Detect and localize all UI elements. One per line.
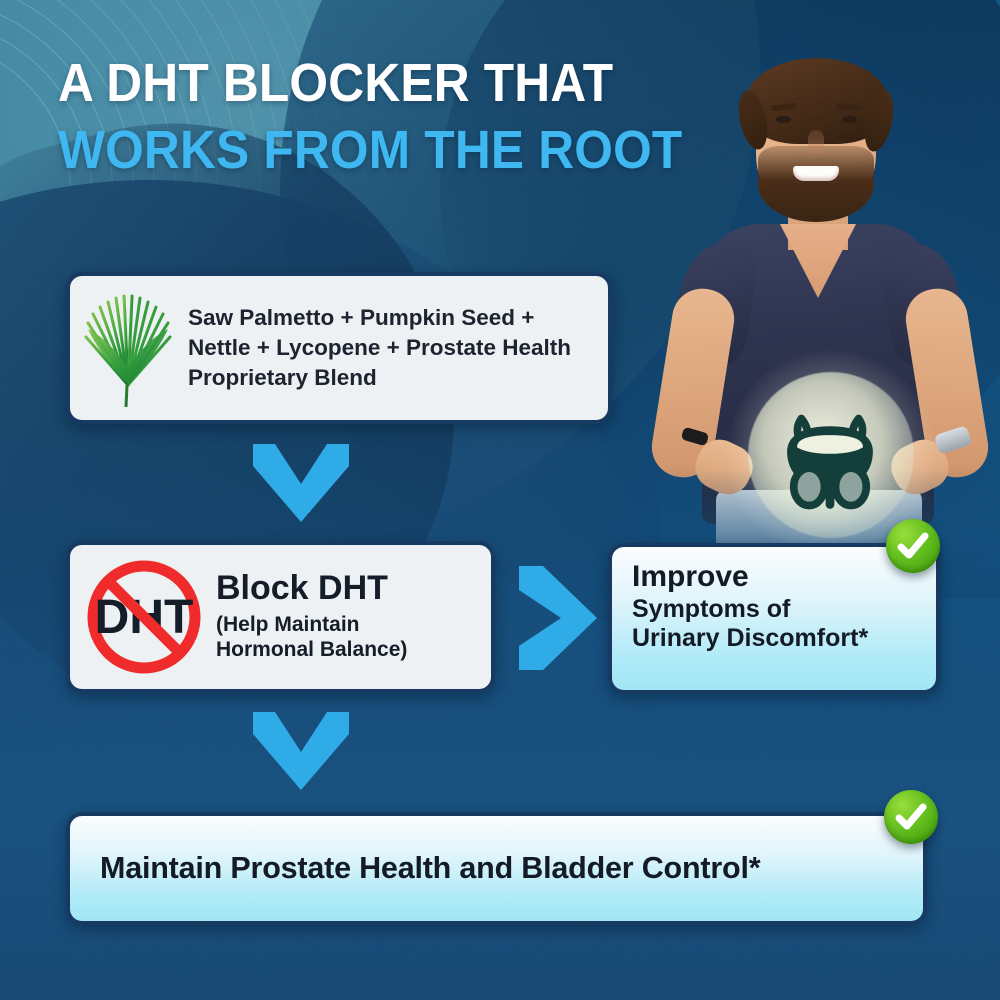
block-dht-title: Block DHT: [216, 571, 407, 607]
palm-leaf-icon: [82, 289, 174, 407]
block-dht-card: DHT Block DHT (Help Maintain Hormonal Ba…: [66, 541, 495, 693]
ingredient-blend-bold: Saw Palmetto: [188, 305, 334, 330]
chevron-down-icon: [253, 444, 349, 527]
ingredient-blend-card: Saw Palmetto + Pumpkin Seed + Nettle + L…: [66, 272, 612, 424]
block-dht-subtitle-line2: Hormonal Balance): [216, 637, 407, 662]
man-smile: [793, 166, 839, 181]
no-dht-icon: DHT: [80, 553, 208, 681]
headline: A DHT BLOCKER THAT WORKS FROM THE ROOT: [58, 56, 778, 178]
maintain-text: Maintain Prostate Health and Bladder Con…: [100, 851, 760, 886]
ingredient-blend-text: Saw Palmetto + Pumpkin Seed + Nettle + L…: [188, 303, 592, 393]
green-check-badge: [884, 790, 938, 844]
block-dht-subtitle: (Help Maintain Hormonal Balance): [216, 612, 407, 662]
man-eye-left: [776, 116, 791, 123]
improve-line-2: Symptoms of: [632, 595, 920, 624]
chevron-right-icon: [519, 566, 597, 675]
improve-symptoms-card: Improve Symptoms of Urinary Discomfort*: [608, 543, 940, 694]
man-eye-right: [842, 116, 857, 123]
improve-title: Improve: [632, 561, 920, 592]
prostate-bladder-icon: [764, 390, 896, 522]
man-nose: [808, 130, 824, 154]
maintain-card: Maintain Prostate Health and Bladder Con…: [66, 812, 927, 925]
green-check-badge: [886, 519, 940, 573]
headline-line-2: WORKS FROM THE ROOT: [58, 123, 720, 178]
maintain-rest: Prostate Health and Bladder Control*: [222, 851, 760, 885]
improve-line-3: Urinary Discomfort*: [632, 624, 920, 653]
infographic-root: A DHT BLOCKER THAT WORKS FROM THE ROOT: [0, 0, 1000, 1000]
chevron-down-icon: [253, 712, 349, 795]
block-dht-subtitle-line1: (Help Maintain: [216, 612, 407, 637]
maintain-bold: Maintain: [100, 851, 222, 885]
headline-line-1: A DHT BLOCKER THAT: [58, 56, 720, 111]
block-dht-text: Block DHT (Help Maintain Hormonal Balanc…: [216, 571, 407, 662]
